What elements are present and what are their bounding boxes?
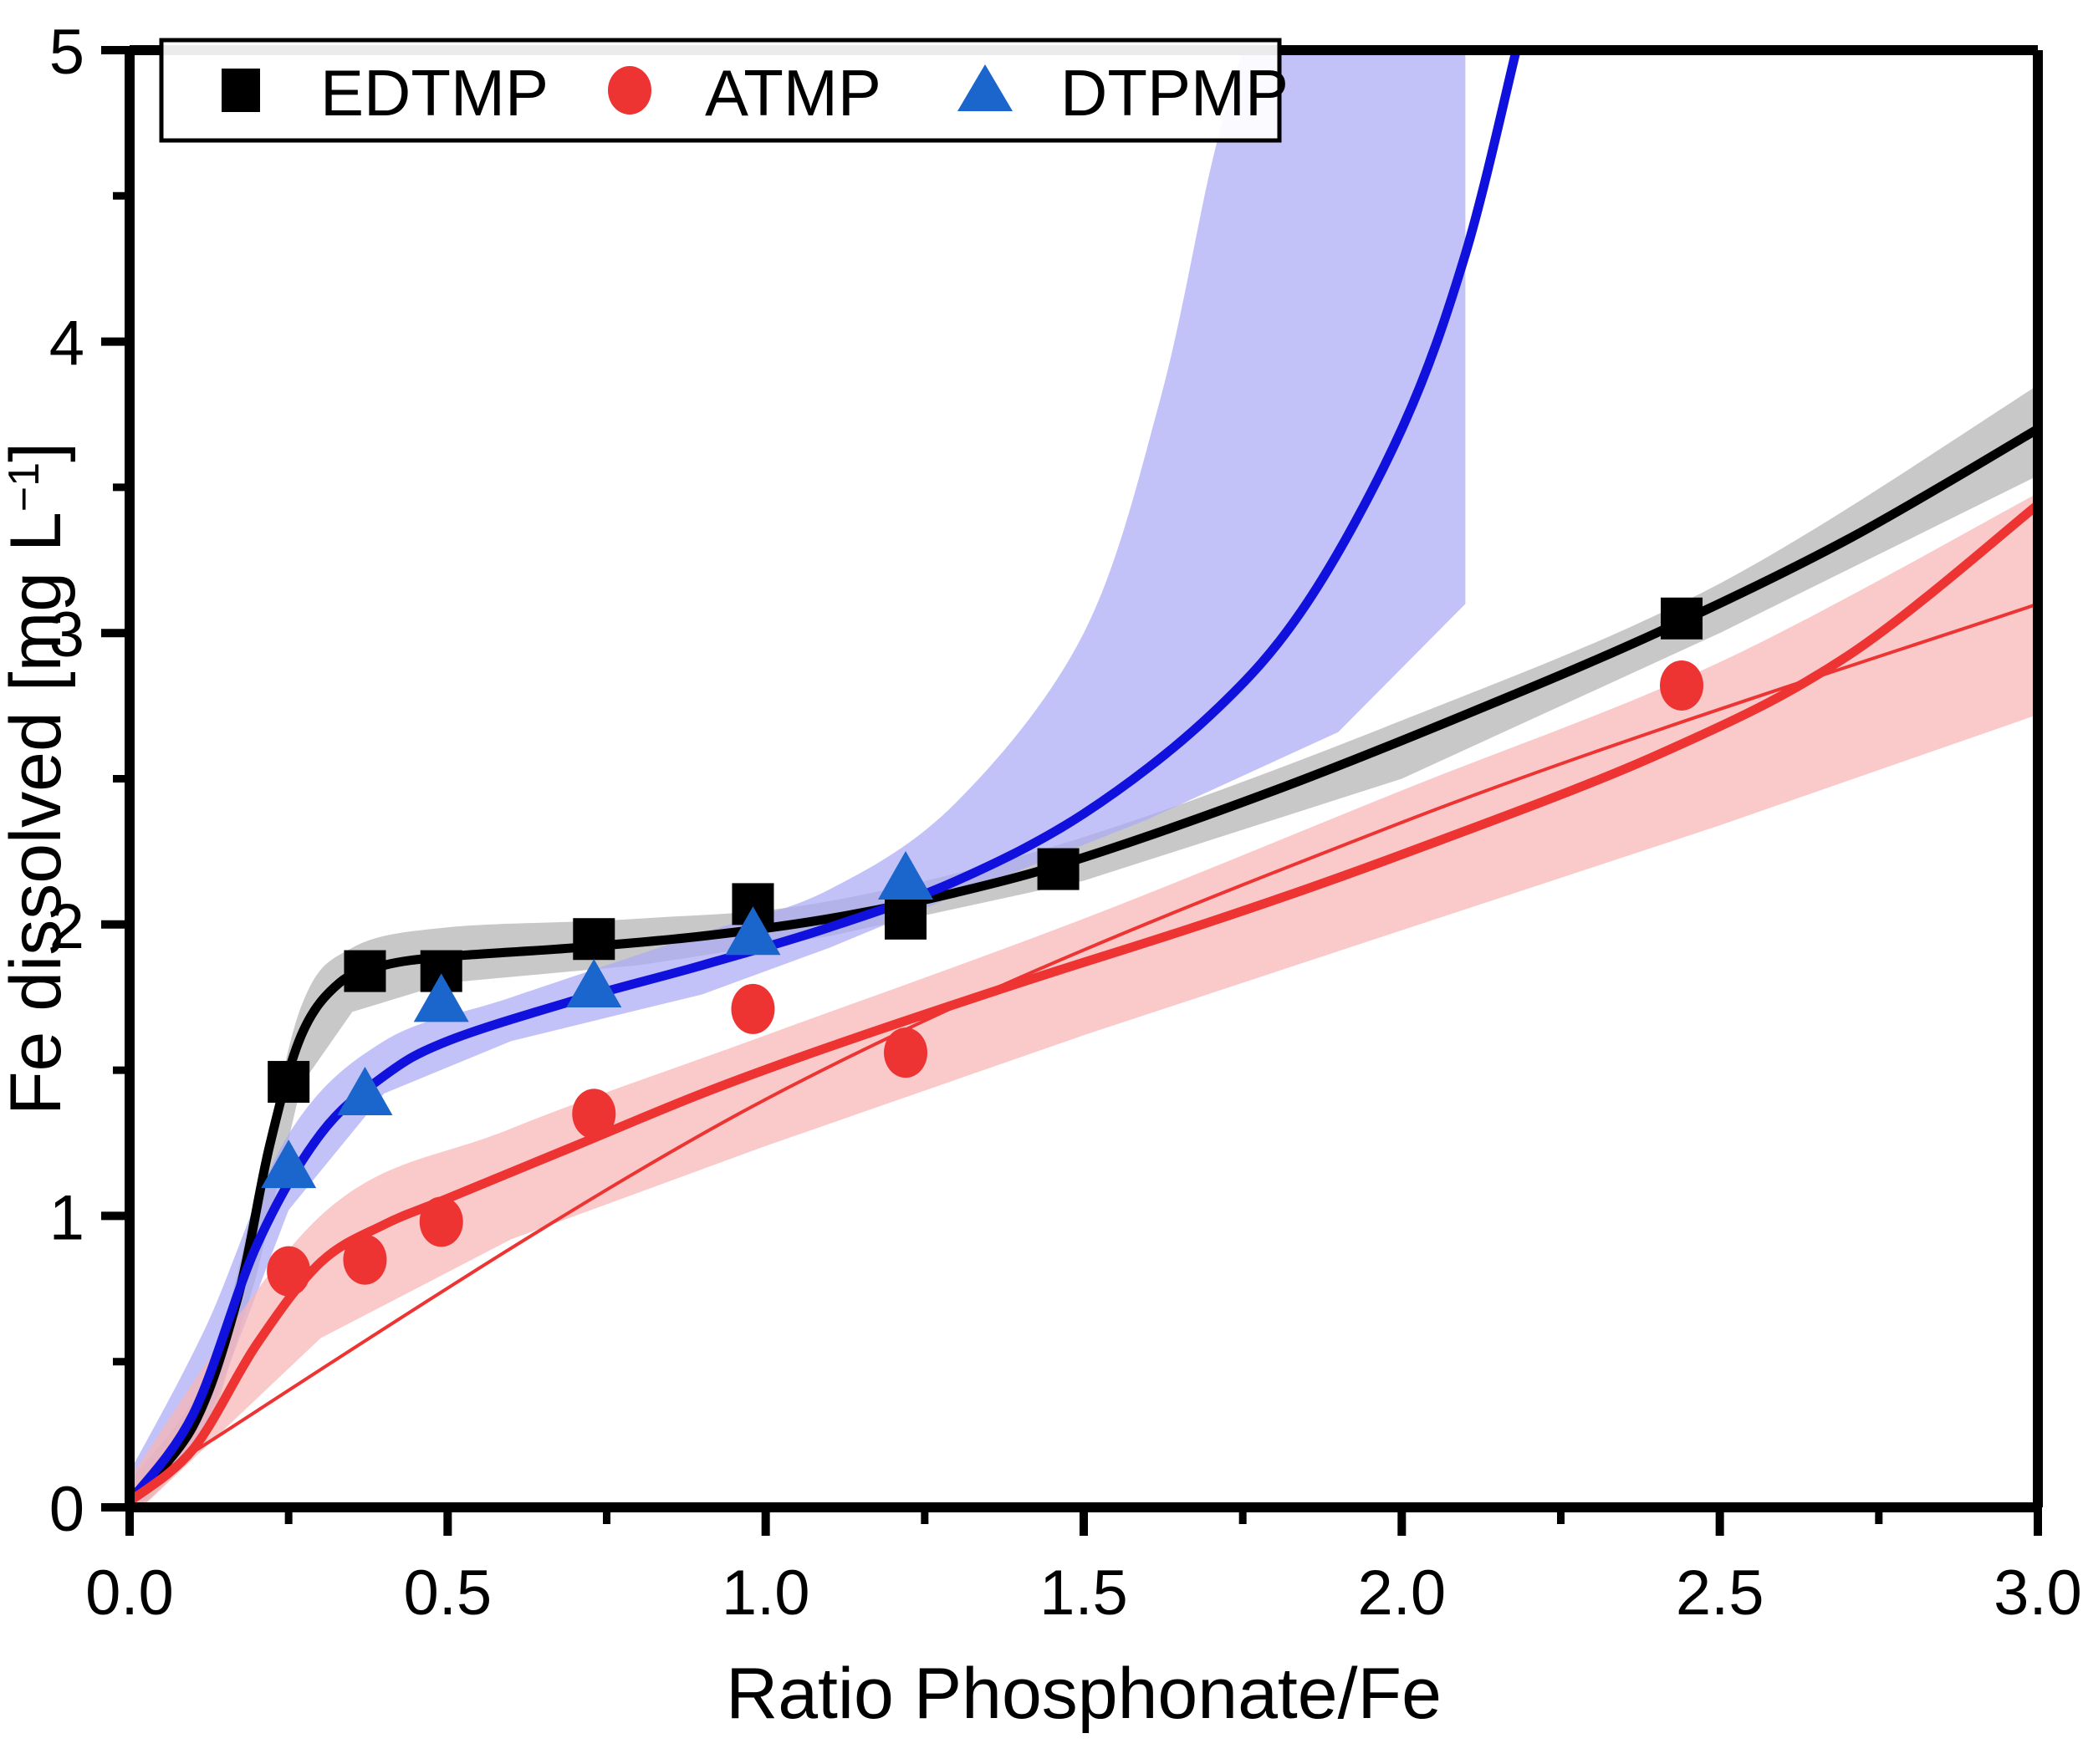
data-point-atmp-1 — [343, 1235, 386, 1285]
data-point-edtmp-7 — [1661, 598, 1703, 640]
y-tick-label: 0 — [49, 1474, 84, 1545]
svg-text:Fe dissolved [mg L−1]: Fe dissolved [mg L−1] — [0, 442, 76, 1115]
data-point-edtmp-0 — [268, 1061, 309, 1103]
confidence-bands-group — [130, 50, 2038, 1519]
legend-label-atmp: ATMP — [705, 56, 881, 130]
data-point-atmp-3 — [572, 1088, 615, 1139]
data-point-edtmp-5 — [885, 898, 927, 940]
data-point-edtmp-6 — [1038, 849, 1080, 890]
y-axis-title: Fe dissolved [mg L−1] — [0, 442, 76, 1115]
x-tick-label: 0.5 — [404, 1558, 493, 1629]
legend[interactable]: EDTMPATMPDTPMP — [161, 40, 1289, 140]
y-tick-label: 5 — [49, 17, 84, 88]
y-tick-label: 1 — [49, 1182, 84, 1253]
data-point-atmp-0 — [267, 1247, 310, 1297]
x-tick-label: 0.0 — [85, 1558, 174, 1629]
scatter-plot: 0.00.51.01.52.02.53.0012345 EDTMPATMPDTP… — [0, 0, 2083, 1764]
legend-label-dtpmp: DTPMP — [1060, 56, 1289, 130]
x-tick-label: 2.0 — [1358, 1558, 1447, 1629]
legend-marker-atmp-icon — [608, 66, 651, 115]
data-point-atmp-2 — [420, 1196, 463, 1247]
data-point-atmp-5 — [884, 1027, 927, 1078]
data-point-atmp-4 — [731, 984, 774, 1034]
y-tick-label: 4 — [49, 308, 84, 380]
data-point-atmp-6 — [1660, 660, 1703, 711]
data-point-edtmp-3 — [573, 918, 615, 960]
legend-marker-edtmp-icon — [222, 69, 260, 112]
chart-figure: 0.00.51.01.52.02.53.0012345 EDTMPATMPDTP… — [0, 0, 2083, 1764]
legend-label-edtmp: EDTMP — [320, 56, 549, 130]
data-point-edtmp-1 — [344, 951, 385, 992]
x-tick-label: 1.5 — [1039, 1558, 1128, 1629]
x-tick-label: 1.0 — [722, 1558, 810, 1629]
x-tick-label: 2.5 — [1676, 1558, 1764, 1629]
x-tick-label: 3.0 — [1994, 1558, 2082, 1629]
x-axis-title: Ratio Phosphonate/Fe — [726, 1654, 1442, 1734]
